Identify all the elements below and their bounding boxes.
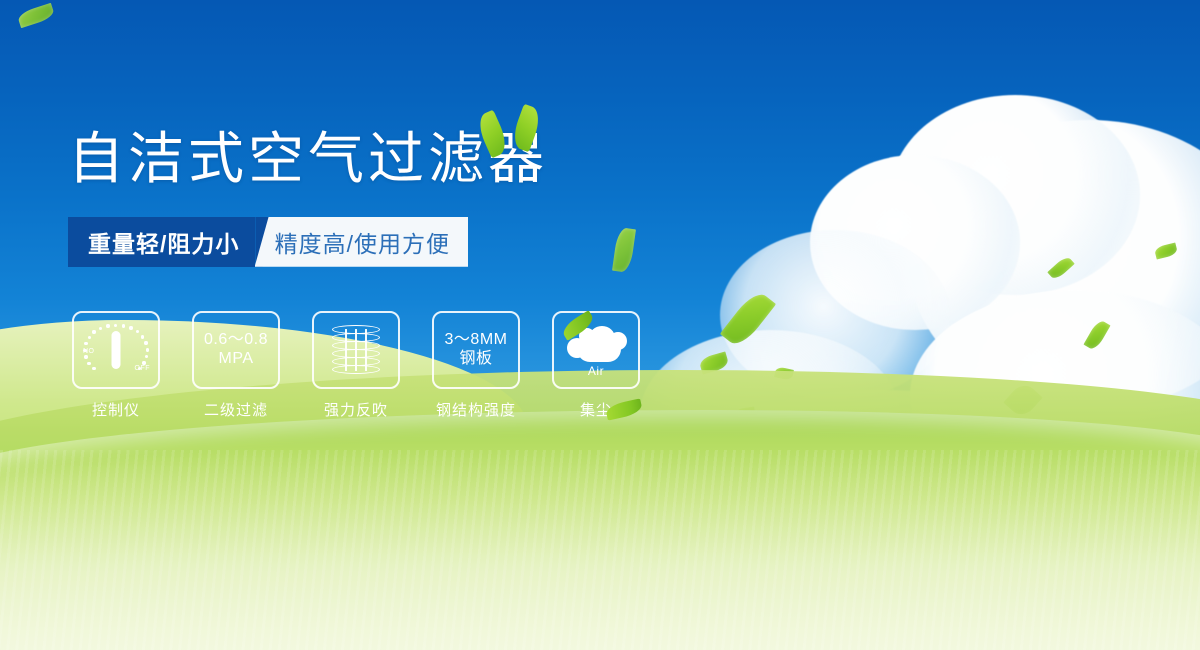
gauge-icon: NO OFF	[85, 322, 147, 378]
feature-caption: 强力反吹	[308, 399, 404, 420]
feature-value-line1: 3～8MM	[445, 331, 508, 349]
feature-icon-box: NO OFF	[72, 311, 160, 389]
banner-content: 自洁式空气过滤器 重量轻/阻力小 精度高/使用方便	[68, 130, 708, 435]
subtitle-left-badge: 重量轻/阻力小	[68, 217, 255, 267]
feature-caption: 钢结构强度	[428, 399, 524, 420]
feature-list: NO OFF 控制仪 0.6～0.8 MPA 二级过滤	[68, 311, 708, 435]
gauge-needle-icon	[112, 331, 121, 369]
grass-highlight	[0, 450, 1200, 650]
feature-icon-box	[312, 311, 400, 389]
feature-item-steel-strength[interactable]: 3～8MM 钢板 钢结构强度	[428, 311, 524, 435]
feature-item-dust-collection[interactable]: Air 集尘	[548, 311, 644, 435]
sprout-leaf-left-icon	[474, 110, 511, 159]
feature-caption: 二级过滤	[188, 399, 284, 420]
feature-item-two-stage-filter[interactable]: 0.6～0.8 MPA 二级过滤	[188, 311, 284, 435]
feature-value-line2: 钢板	[459, 350, 492, 368]
feature-item-strong-backblow[interactable]: 强力反吹	[308, 311, 404, 435]
feature-icon-box: 0.6～0.8 MPA	[192, 311, 280, 389]
feature-icon-box: 3～8MM 钢板	[432, 311, 520, 389]
feature-value-line1: 0.6～0.8	[204, 331, 268, 349]
product-banner: 自洁式空气过滤器 重量轻/阻力小 精度高/使用方便	[0, 0, 1200, 650]
gauge-label-off: OFF	[135, 365, 151, 372]
feature-item-control-gauge[interactable]: NO OFF 控制仪	[68, 311, 164, 435]
subtitle-right-badge: 精度高/使用方便	[255, 217, 468, 267]
feature-icon-box: Air	[552, 311, 640, 389]
sprout-leaf-right-icon	[509, 104, 544, 153]
gauge-label-no: NO	[83, 348, 95, 355]
feature-value-line2: MPA	[219, 350, 254, 368]
sprout-leaves-icon	[472, 102, 552, 162]
floating-leaf	[17, 3, 56, 28]
cloud-air-icon: Air	[565, 324, 627, 376]
coil-icon	[332, 325, 380, 375]
feature-caption: 控制仪	[68, 399, 164, 420]
subtitle-bar: 重量轻/阻力小 精度高/使用方便	[68, 217, 468, 267]
page-title: 自洁式空气过滤器	[68, 130, 708, 189]
air-label: Air	[565, 364, 627, 378]
